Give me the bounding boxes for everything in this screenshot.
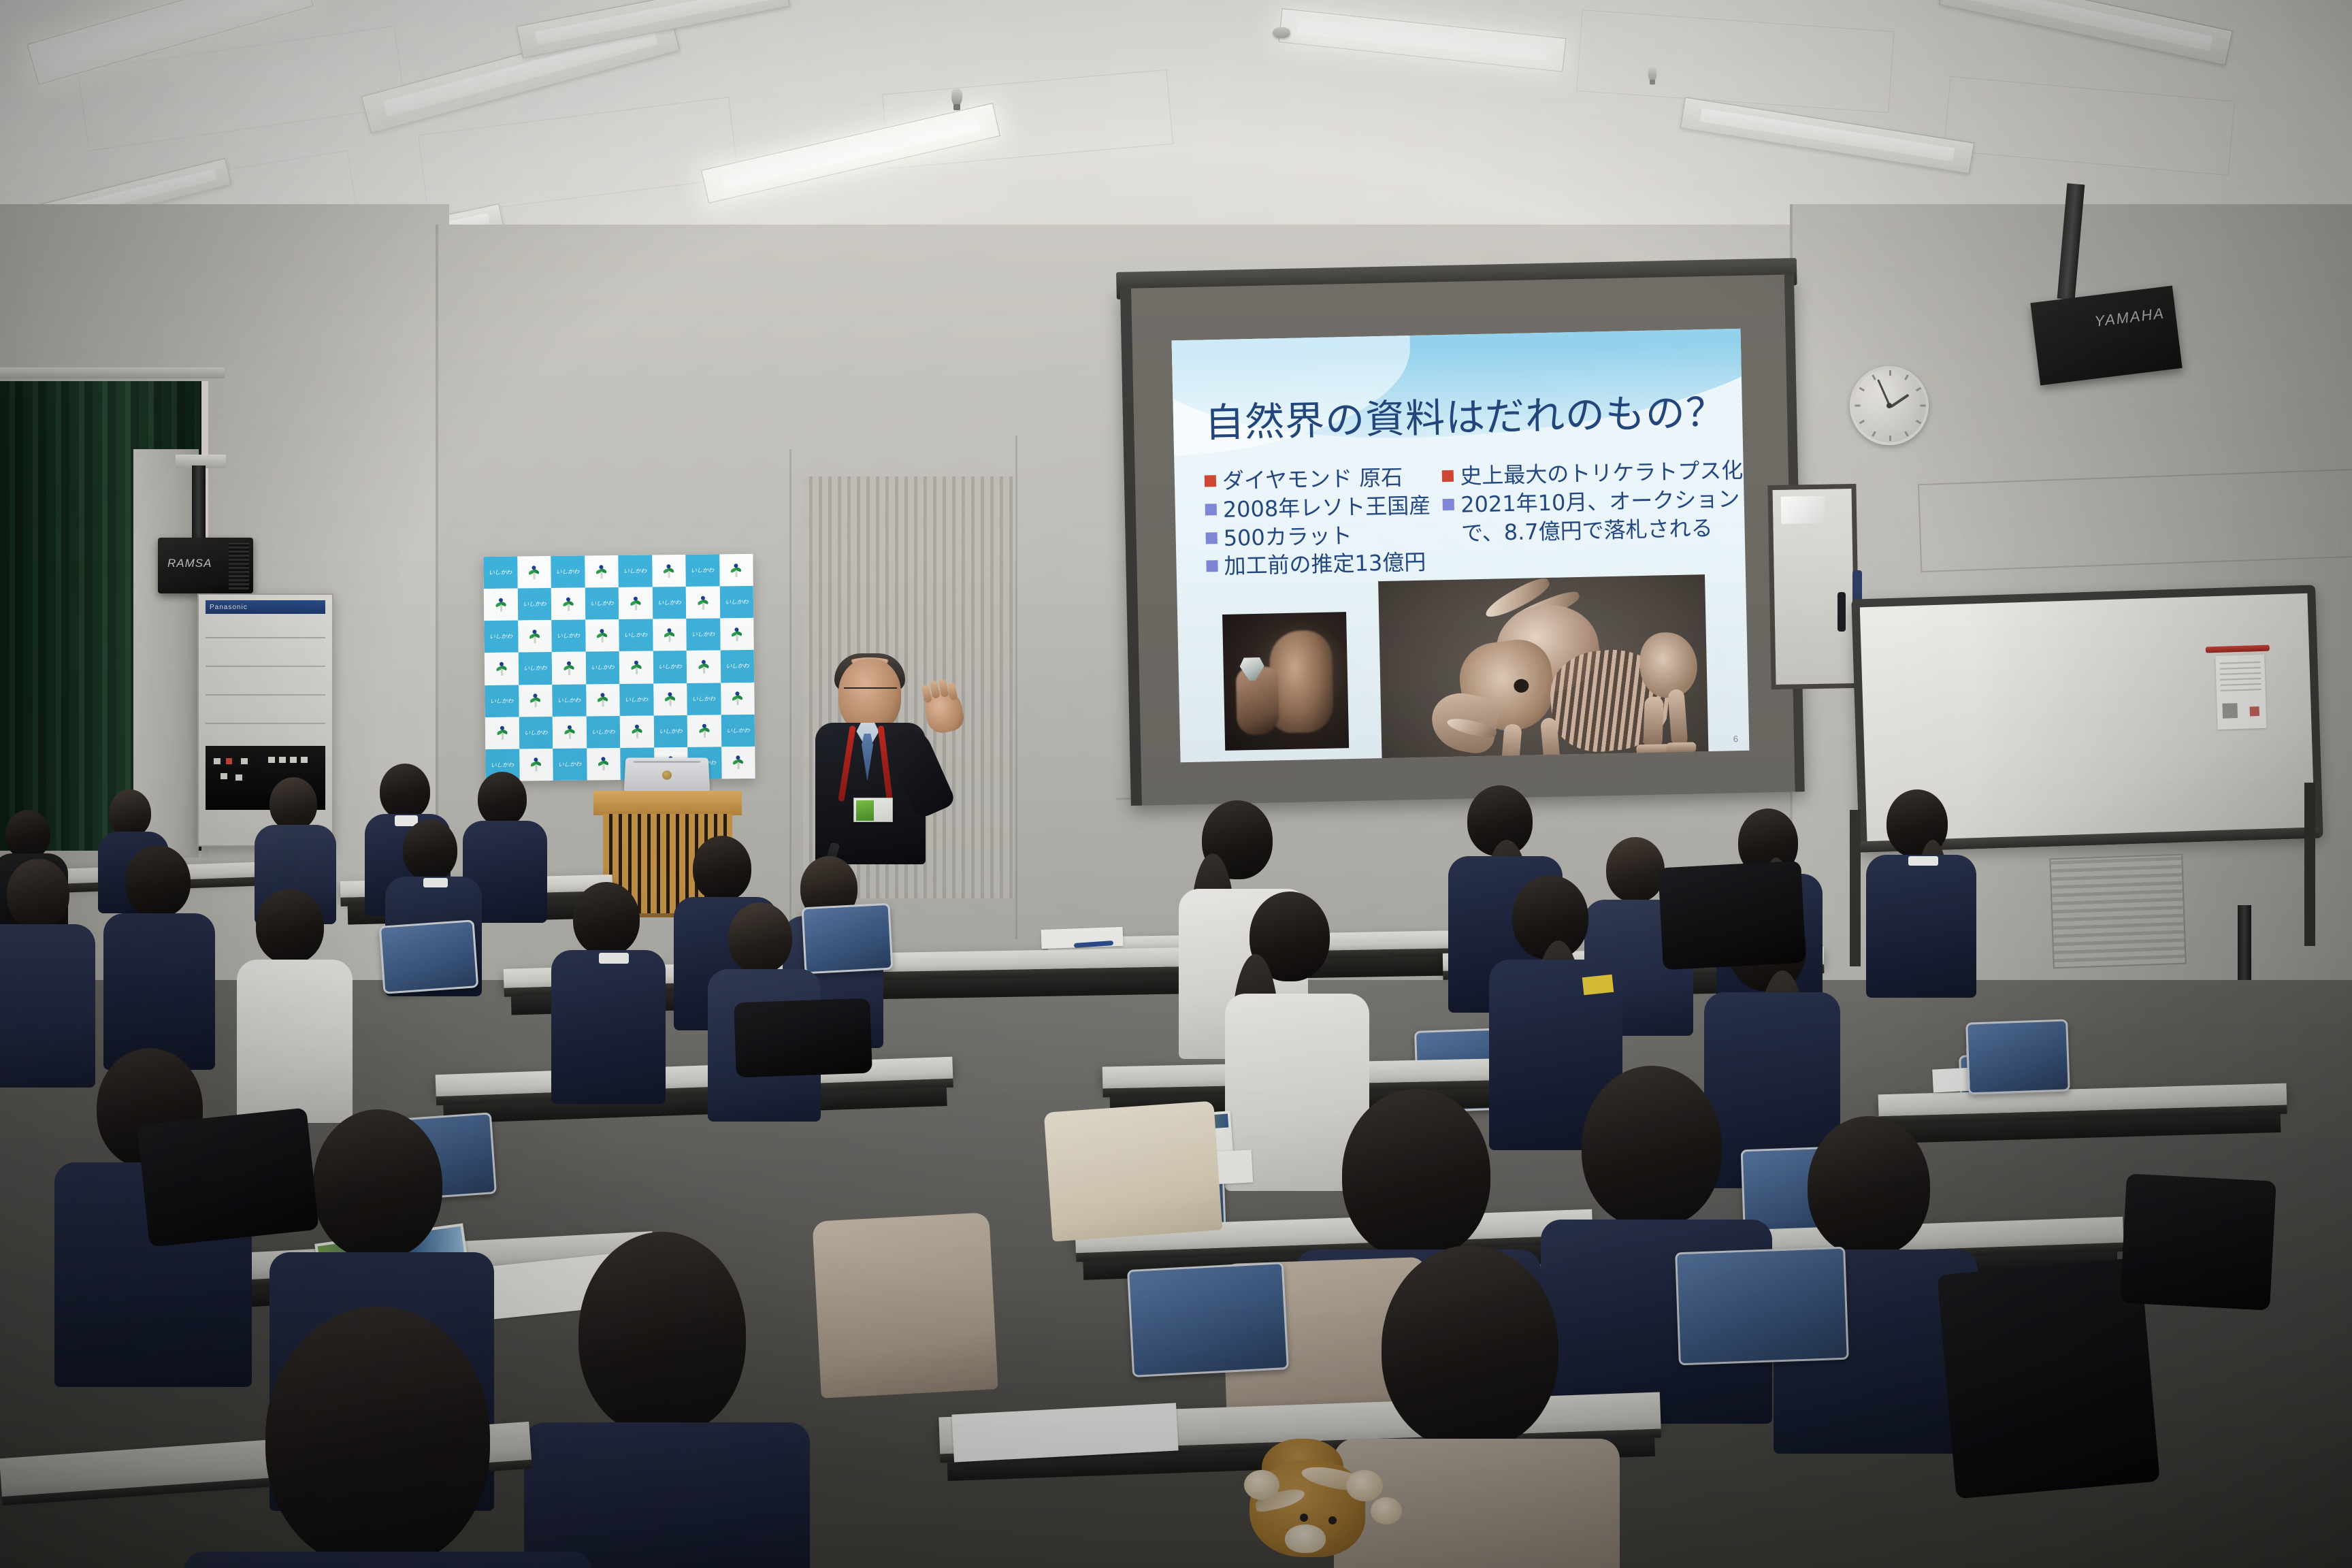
- clock-tick: [1855, 405, 1861, 407]
- banner-cell: [484, 589, 518, 621]
- banner-flower-icon: [598, 757, 609, 771]
- ceiling-light-fixture: [517, 0, 790, 59]
- banner-flower-icon: [531, 758, 542, 772]
- magnet-strip[interactable]: [2206, 645, 2270, 653]
- banner-logo-text: いしかわ: [590, 600, 613, 607]
- banner-flower-icon: [529, 630, 540, 643]
- banner-cell: いしかわ: [552, 684, 586, 717]
- banner-flower-icon: [596, 565, 607, 578]
- banner-logo-text: いしかわ: [523, 665, 546, 672]
- backpack: [2120, 1173, 2276, 1310]
- banner-cell: いしかわ: [518, 652, 552, 685]
- banner-logo-text: いしかわ: [556, 568, 579, 576]
- yamaha-speaker-icon: YAMAHA: [2030, 286, 2182, 386]
- banner-logo-text: いしかわ: [490, 697, 513, 704]
- banner-flower-icon: [698, 595, 708, 609]
- id-badge: [853, 798, 893, 822]
- clock-tick: [1889, 370, 1891, 376]
- banner-cell: [687, 651, 721, 683]
- banner-flower-icon: [597, 629, 608, 642]
- banner-logo-text: いしかわ: [691, 567, 714, 574]
- chair[interactable]: [1127, 1262, 1289, 1377]
- raised-hand-icon: [921, 687, 966, 736]
- bullet-text: 加工前の推定13億円: [1224, 550, 1426, 580]
- banner-flower-icon: [598, 693, 608, 706]
- banner-cell: いしかわ: [687, 683, 721, 715]
- ceiling-light-fixture: [1680, 97, 1974, 174]
- banner-cell: [553, 716, 587, 749]
- banner-flower-icon: [563, 597, 574, 610]
- banner-cell: いしかわ: [519, 717, 553, 749]
- banner-logo-text: いしかわ: [624, 632, 647, 639]
- banner-logo-text: いしかわ: [691, 631, 715, 638]
- banner-logo-text: いしかわ: [523, 600, 546, 608]
- banner-cell: [551, 588, 585, 621]
- banner-flower-icon: [731, 563, 742, 577]
- slide-image-diamond: [1222, 612, 1349, 751]
- side-whiteboard[interactable]: [1767, 484, 1859, 689]
- banner-cell: [719, 554, 753, 587]
- bullet-text: 史上最大のトリケラトプス化石: [1460, 457, 1749, 489]
- ceiling-light-fixture: [1279, 8, 1567, 72]
- av-rack-brand-label: Panasonic: [210, 604, 248, 611]
- banner-flower-icon: [496, 662, 507, 676]
- backpack: [1658, 861, 1806, 970]
- banner-cell: [517, 556, 551, 589]
- posted-notice: [2215, 655, 2266, 730]
- banner-logo-text: いしかわ: [692, 695, 715, 702]
- podium-top: [593, 791, 742, 815]
- ramsa-speaker-icon: RAMSA: [158, 538, 253, 593]
- banner-flower-icon: [732, 627, 742, 641]
- banner-cell: いしかわ: [653, 651, 687, 683]
- banner-logo-text: いしかわ: [557, 632, 580, 640]
- bullet-text: で、8.7億円で落札される: [1461, 515, 1713, 546]
- sprinkler-head-icon: [951, 88, 962, 106]
- banner-cell: いしかわ: [551, 556, 585, 589]
- banner-logo-text: いしかわ: [591, 728, 615, 736]
- banner-cell: [619, 587, 653, 620]
- banner-flower-icon: [529, 566, 540, 579]
- slide-bullet: 500カラット: [1205, 521, 1431, 552]
- bullet-square-icon: [1206, 560, 1218, 572]
- laptop-logo-icon: [662, 770, 672, 780]
- banner-logo-text: いしかわ: [558, 760, 581, 768]
- banner-logo-text: いしかわ: [489, 569, 512, 576]
- banner-cell: いしかわ: [652, 587, 686, 619]
- av-rack-brand-bar: Panasonic: [206, 600, 325, 614]
- banner-cell: [721, 747, 755, 779]
- banner-cell: いしかわ: [517, 588, 551, 621]
- banner-cell: いしかわ: [685, 554, 719, 587]
- banner-cell: いしかわ: [586, 716, 620, 749]
- banner-cell: [585, 555, 619, 588]
- presenter-laptop[interactable]: [624, 757, 710, 793]
- bullet-text: ダイヤモンド 原石: [1222, 465, 1403, 494]
- banner-cell: いしかわ: [585, 651, 619, 684]
- banner-flower-icon: [664, 628, 675, 642]
- banner-cell: [585, 619, 619, 652]
- banner-cell: [586, 684, 620, 717]
- banner-cell: いしかわ: [719, 586, 753, 619]
- slide-image-triceratops-fossil: [1378, 574, 1709, 762]
- banner-logo-text: いしかわ: [557, 696, 581, 704]
- banner-cell: いしかわ: [721, 715, 755, 747]
- banner-cell: [686, 587, 720, 619]
- banner-flower-icon: [699, 724, 710, 738]
- banner-cell: いしかわ: [653, 715, 687, 748]
- bullet-text: 2021年10月、オークション: [1460, 487, 1740, 518]
- chair[interactable]: [379, 919, 479, 994]
- banner-cell: いしかわ: [483, 557, 517, 589]
- clock-tick: [1859, 387, 1865, 392]
- banner-logo-text: いしかわ: [491, 762, 514, 769]
- banner-cell: [687, 715, 721, 747]
- projection-screen: 自然界の資料はだれのもの？ ダイヤモンド 原石 2008年レソト王国産 500カ…: [1120, 274, 1805, 806]
- banner-cell: [552, 652, 586, 685]
- bullet-square-icon: [1206, 532, 1218, 544]
- side-whiteboard-marker[interactable]: [1837, 592, 1846, 632]
- ramsa-speaker-label: RAMSA: [167, 557, 212, 570]
- banner-flower-icon: [530, 693, 541, 707]
- slide-bullet: 2008年レソト王国産: [1205, 493, 1431, 523]
- banner-logo-text: いしかわ: [591, 664, 614, 672]
- clock-tick: [1916, 420, 1921, 425]
- chair[interactable]: [802, 903, 894, 975]
- banner-flower-icon: [732, 691, 743, 705]
- banner-cell: [720, 618, 754, 651]
- slide-bullet: ダイヤモンド 原石: [1205, 465, 1431, 495]
- banner-logo-text: いしかわ: [657, 599, 681, 606]
- glasses-icon: [844, 687, 897, 696]
- yamaha-speaker-label: YAMAHA: [2093, 304, 2166, 330]
- banner-logo-text: いしかわ: [524, 729, 547, 736]
- banner-logo-text: いしかわ: [625, 696, 648, 703]
- bullet-square-icon: [1443, 499, 1454, 510]
- banner-flower-icon: [563, 661, 574, 675]
- banner-cell: いしかわ: [619, 683, 653, 716]
- bullet-text: 2008年レソト王国産: [1222, 493, 1431, 523]
- ceiling-light-fixture: [701, 103, 1000, 203]
- banner-flower-icon: [664, 564, 674, 578]
- clock-tick: [1916, 387, 1921, 392]
- chair[interactable]: [1675, 1247, 1849, 1366]
- banner-logo-text: いしかわ: [659, 728, 682, 735]
- banner-cell: いしかわ: [585, 587, 619, 620]
- banner-flower-icon: [631, 661, 642, 674]
- ceiling-light-fixture: [27, 0, 314, 85]
- fleece-jacket-on-chair: [1044, 1101, 1223, 1242]
- curtain-rod: [0, 367, 225, 378]
- slide-right-column: 史上最大のトリケラトプス化石 2021年10月、オークション で、8.7億円で落…: [1442, 457, 1749, 578]
- clock-tick: [1872, 374, 1876, 380]
- banner-flower-icon: [564, 725, 575, 739]
- sprinkler-head-icon: [1648, 67, 1657, 82]
- banner-cell: [587, 748, 621, 781]
- smoke-detector-icon: [1273, 27, 1290, 38]
- whiteboard-leg: [1850, 810, 1861, 966]
- banner-cell: いしかわ: [484, 621, 518, 653]
- clock-tick: [1921, 405, 1926, 407]
- banner-flower-icon: [733, 756, 744, 770]
- slide-bullet: で、8.7億円で落札される: [1443, 514, 1750, 547]
- banner-flower-icon: [495, 598, 506, 611]
- clock-tick: [1859, 420, 1865, 425]
- slide-title: 自然界の資料はだれのもの？: [1205, 391, 1736, 444]
- slide-left-column: ダイヤモンド 原石 2008年レソト王国産 500カラット 加工前の推定13億円: [1205, 465, 1433, 583]
- clock-tick: [1904, 431, 1909, 436]
- coat-on-chair: [812, 1212, 998, 1398]
- whiteboard-leg: [2304, 783, 2315, 946]
- banner-logo-text: いしかわ: [623, 568, 647, 575]
- banner-cell: いしかわ: [619, 619, 653, 652]
- banner-cell: [721, 682, 755, 715]
- slide-bullet: 2021年10月、オークション: [1443, 486, 1750, 519]
- banner-cell: [519, 685, 553, 717]
- banner-cell: いしかわ: [720, 650, 754, 683]
- banner-cell: [619, 651, 653, 684]
- banner-logo-text: いしかわ: [726, 727, 749, 734]
- banner-cell: [519, 749, 553, 781]
- wall-clock: [1850, 366, 1929, 445]
- event-backdrop-banner: いしかわいしかわいしかわいしかわいしかわいしかわいしかわいしかわいしかわいしかわ…: [483, 554, 755, 781]
- banner-cell: いしかわ: [686, 619, 720, 651]
- bullet-square-icon: [1442, 470, 1454, 482]
- clock-hour-hand: [1890, 393, 1910, 408]
- banner-cell: いしかわ: [618, 555, 652, 587]
- banner-logo-text: いしかわ: [658, 664, 681, 671]
- triceratops-plush-toy: [1225, 1432, 1402, 1561]
- clock-tick: [1904, 374, 1909, 380]
- banner-flower-icon: [630, 596, 641, 610]
- backpack: [734, 998, 872, 1078]
- banner-flower-icon: [497, 726, 508, 740]
- sticky-note: [1582, 975, 1614, 995]
- clock-tick: [1872, 431, 1876, 436]
- bullet-square-icon: [1205, 475, 1216, 487]
- banner-cell: いしかわ: [485, 685, 519, 717]
- clock-tick: [1889, 436, 1891, 441]
- banner-flower-icon: [632, 725, 642, 738]
- banner-logo-text: いしかわ: [725, 662, 749, 670]
- banner-cell: [485, 717, 519, 749]
- banner-logo-text: いしかわ: [489, 633, 512, 640]
- banner-cell: いしかわ: [551, 620, 585, 653]
- banner-flower-icon: [698, 660, 709, 674]
- banner-logo-text: いしかわ: [725, 598, 748, 606]
- banner-cell: いしかわ: [553, 748, 587, 781]
- backpack: [137, 1107, 318, 1247]
- banner-cell: [518, 620, 552, 653]
- slide-bullet: 史上最大のトリケラトプス化石: [1442, 457, 1749, 490]
- speaker-mount-stem: [192, 465, 206, 542]
- ceiling-light-fixture: [1939, 0, 2232, 65]
- banner-flower-icon: [665, 692, 676, 706]
- banner-cell: [653, 619, 687, 651]
- wall-recess-outline: [1918, 469, 2352, 572]
- slide-bullet: 加工前の推定13億円: [1206, 550, 1432, 581]
- chair[interactable]: [1965, 1019, 2070, 1094]
- banner-cell: [653, 683, 687, 716]
- banner-cell: [485, 653, 519, 685]
- presenter: [795, 647, 965, 864]
- bullet-text: 500カラット: [1223, 523, 1352, 551]
- wall-vent-grille: [2049, 854, 2187, 969]
- banner-cell: [620, 715, 654, 748]
- bullet-square-icon: [1205, 504, 1217, 515]
- banner-cell: [652, 555, 686, 587]
- slide-page-number: 6: [1733, 734, 1739, 744]
- lecture-hall-photo: RAMSA Panasonic いしかわいしかわいしかわいしかわいしかわいしかわ…: [0, 0, 2352, 1568]
- presentation-slide: 自然界の資料はだれのもの？ ダイヤモンド 原石 2008年レソト王国産 500カ…: [1172, 329, 1750, 762]
- ceiling-light-fixture: [361, 14, 680, 133]
